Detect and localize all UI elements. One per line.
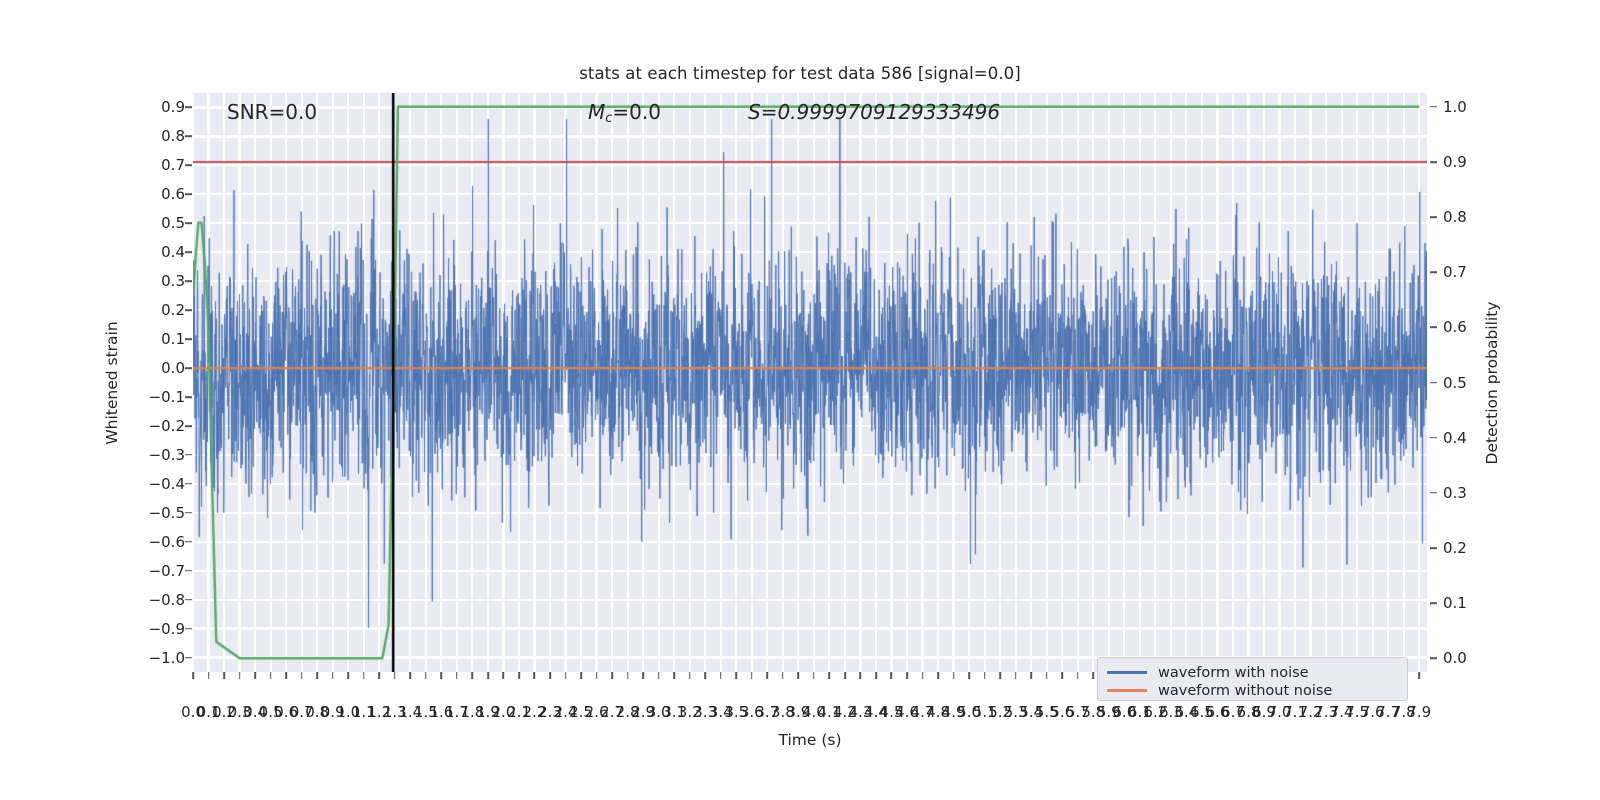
- y-axis-left-tick-label: 0.1: [161, 330, 185, 348]
- y-axis-left-tick-mark: [185, 512, 192, 514]
- x-axis-tick-mark: [441, 672, 443, 679]
- y-axis-left-tick-label: −0.5: [149, 504, 185, 522]
- y-axis-right-tick-label: 0.4: [1443, 429, 1467, 447]
- y-axis-right-tick-mark: [1430, 271, 1437, 273]
- y-axis-left-tick-mark: [185, 280, 192, 282]
- x-axis-tick-mark: [829, 672, 831, 679]
- y-axis-left-tick-label: −0.8: [149, 591, 185, 609]
- y-axis-right-tick-mark: [1430, 216, 1437, 218]
- y-axis-right-tick-mark: [1430, 161, 1437, 163]
- legend-item-label: waveform without noise: [1158, 683, 1332, 699]
- y-axis-left-tick-mark: [185, 396, 192, 398]
- y-axis-left-tick-label: 0.6: [161, 185, 185, 203]
- y-axis-right-tick-mark: [1430, 437, 1437, 439]
- y-axis-right-tick-mark: [1430, 657, 1437, 659]
- y-axis-left-tick-mark: [185, 194, 192, 196]
- y-axis-left-tick-mark: [185, 338, 192, 340]
- annotation-chirp-mass-symbol: M: [588, 100, 605, 124]
- legend-item: waveform without noise: [1107, 682, 1398, 699]
- x-axis-tick-mark: [767, 672, 769, 679]
- y-axis-left-tick-mark: [185, 309, 192, 311]
- y-axis-right-tick-label: 0.1: [1443, 594, 1467, 612]
- y-axis-left-tick-label: −0.4: [149, 475, 185, 493]
- x-axis-tick-mark: [378, 672, 380, 679]
- x-axis-tick-mark: [984, 672, 986, 679]
- x-axis-tick-mark: [487, 672, 489, 679]
- x-axis-tick-mark: [720, 672, 722, 679]
- x-axis-tick-mark: [922, 672, 924, 679]
- x-axis-tick-mark: [285, 672, 287, 679]
- y-axis-right-tick-mark: [1430, 382, 1437, 384]
- x-axis-tick-mark: [534, 672, 536, 679]
- y-axis-left-tick-label: −0.6: [149, 533, 185, 551]
- y-axis-left-tick-mark: [185, 599, 192, 601]
- x-axis-tick-mark: [844, 672, 846, 679]
- y-axis-left-tick-label: 0.8: [161, 127, 185, 145]
- x-axis-tick-mark: [316, 672, 318, 679]
- x-axis-tick-mark: [735, 672, 737, 679]
- y-axis-left-tick-mark: [185, 628, 192, 630]
- y-axis-left-tick-mark: [185, 541, 192, 543]
- y-axis-left-tick-label: 0.7: [161, 156, 185, 174]
- x-axis-tick-mark: [1046, 672, 1048, 679]
- x-axis-tick-mark: [192, 672, 194, 679]
- y-axis-left-tick-label: 0.0: [161, 359, 185, 377]
- x-axis-tick-mark: [751, 672, 753, 679]
- y-axis-left-tick-label: 0.4: [161, 243, 185, 261]
- x-axis-tick-mark: [549, 672, 551, 679]
- x-axis-tick-mark: [689, 672, 691, 679]
- y-axis-left-tick-label: −0.9: [149, 620, 185, 638]
- annotation-chirp-mass: Mc=0.0: [588, 100, 661, 126]
- x-axis-tick-mark: [999, 672, 1001, 679]
- x-axis-tick-mark: [875, 672, 877, 679]
- y-axis-left-tick-mark: [185, 425, 192, 427]
- x-axis-tick-mark: [565, 672, 567, 679]
- annotation-snr: SNR=0.0: [227, 100, 317, 124]
- y-axis-left-tick-mark: [185, 222, 192, 224]
- legend-line-swatch: [1107, 689, 1147, 691]
- x-axis-tick-mark: [580, 672, 582, 679]
- x-axis-tick-mark: [658, 672, 660, 679]
- y-axis-right-tick-mark: [1430, 106, 1437, 108]
- x-axis-tick-mark: [1030, 672, 1032, 679]
- y-axis-left-tick-mark: [185, 570, 192, 572]
- y-axis-left-tick-label: 0.3: [161, 272, 185, 290]
- plot-area: [193, 93, 1427, 672]
- overlay-canvas: [193, 93, 1427, 672]
- legend-line-swatch: [1107, 671, 1147, 673]
- x-axis-tick-mark: [611, 672, 613, 679]
- x-axis-tick-mark: [239, 672, 241, 679]
- y-axis-right-tick-label: 0.5: [1443, 374, 1467, 392]
- x-axis-tick-mark: [813, 672, 815, 679]
- y-axis-left-tick-mark: [185, 107, 192, 109]
- y-axis-left-tick-label: −1.0: [149, 649, 185, 667]
- legend: waveform with noise waveform without noi…: [1097, 657, 1408, 701]
- y-axis-left-tick-mark: [185, 251, 192, 253]
- y-axis-right-tick-label: 0.8: [1443, 208, 1467, 226]
- y-axis-right-tick-label: 1.0: [1443, 98, 1467, 116]
- y-axis-left-label: Whitened strain: [103, 321, 121, 444]
- x-axis-tick-mark: [627, 672, 629, 679]
- y-axis-left-tick-mark: [185, 136, 192, 138]
- x-axis-tick-mark: [673, 672, 675, 679]
- x-axis-tick-mark: [363, 672, 365, 679]
- x-axis-tick-mark: [270, 672, 272, 679]
- x-axis-tick-mark: [968, 672, 970, 679]
- y-axis-left-tick-label: 0.5: [161, 214, 185, 232]
- x-axis-tick-mark: [704, 672, 706, 679]
- x-axis-tick-mark: [1092, 672, 1094, 679]
- x-axis-tick-mark: [332, 672, 334, 679]
- y-axis-right-tick-mark: [1430, 492, 1437, 494]
- x-axis-tick-mark: [1418, 672, 1420, 679]
- y-axis-left-tick-mark: [185, 367, 192, 369]
- annotation-score-text: S=0.9999709129333496: [748, 100, 1000, 124]
- x-axis-tick-mark: [1077, 672, 1079, 679]
- y-axis-right-tick-label: 0.2: [1443, 539, 1467, 557]
- x-axis-tick-mark: [254, 672, 256, 679]
- x-axis-tick-mark: [301, 672, 303, 679]
- x-axis-tick-mark: [208, 672, 210, 679]
- x-axis-tick-mark: [1015, 672, 1017, 679]
- y-axis-right-tick-mark: [1430, 327, 1437, 329]
- y-axis-left-tick-label: −0.3: [149, 446, 185, 464]
- y-axis-left-tick-label: −0.1: [149, 388, 185, 406]
- y-axis-left-tick-label: −0.2: [149, 417, 185, 435]
- y-axis-left-tick-label: 0.9: [161, 98, 185, 116]
- x-axis-tick-mark: [347, 672, 349, 679]
- x-axis-tick-mark: [953, 672, 955, 679]
- y-axis-right-tick-label: 0.7: [1443, 263, 1467, 281]
- x-axis-tick-mark: [798, 672, 800, 679]
- legend-item: waveform with noise: [1107, 664, 1398, 681]
- y-axis-left-tick-mark: [185, 454, 192, 456]
- x-axis-tick-mark: [425, 672, 427, 679]
- y-axis-left-tick-mark: [185, 657, 192, 659]
- x-axis-tick-mark: [891, 672, 893, 679]
- x-axis-tick-mark: [1061, 672, 1063, 679]
- x-axis-tick-mark: [456, 672, 458, 679]
- y-axis-left-tick-mark: [185, 483, 192, 485]
- x-axis-tick-mark: [410, 672, 412, 679]
- annotation-chirp-mass-value: =0.0: [612, 100, 661, 124]
- y-axis-right-tick-label: 0.3: [1443, 484, 1467, 502]
- x-axis-tick-mark: [472, 672, 474, 679]
- x-axis-tick-mark: [394, 672, 396, 679]
- y-axis-right-tick-label: 0.6: [1443, 318, 1467, 336]
- x-axis-tick-mark: [860, 672, 862, 679]
- x-axis-tick-mark: [937, 672, 939, 679]
- annotation-score: S=0.9999709129333496: [748, 100, 1000, 124]
- page-title: stats at each timestep for test data 586…: [0, 64, 1600, 83]
- y-axis-left-tick-label: 0.2: [161, 301, 185, 319]
- x-axis-tick-mark: [503, 672, 505, 679]
- x-axis-tick-mark: [223, 672, 225, 679]
- y-axis-right-tick-label: 0.9: [1443, 153, 1467, 171]
- y-axis-left-tick-label: −0.7: [149, 562, 185, 580]
- x-axis-tick-mark: [596, 672, 598, 679]
- y-axis-right-tick-label: 0.0: [1443, 649, 1467, 667]
- x-axis-tick-label: 7.9: [1407, 703, 1431, 721]
- x-axis-tick-mark: [906, 672, 908, 679]
- y-axis-right-label: Detection probability: [1483, 302, 1501, 465]
- legend-item-label: waveform with noise: [1158, 665, 1309, 681]
- x-axis-tick-mark: [782, 672, 784, 679]
- y-axis-right-tick-mark: [1430, 547, 1437, 549]
- x-axis-tick-mark: [642, 672, 644, 679]
- x-axis-tick-mark: [518, 672, 520, 679]
- figure: stats at each timestep for test data 586…: [0, 0, 1600, 800]
- y-axis-right-tick-mark: [1430, 602, 1437, 604]
- y-axis-left-tick-mark: [185, 165, 192, 167]
- x-axis-label: Time (s): [778, 731, 841, 749]
